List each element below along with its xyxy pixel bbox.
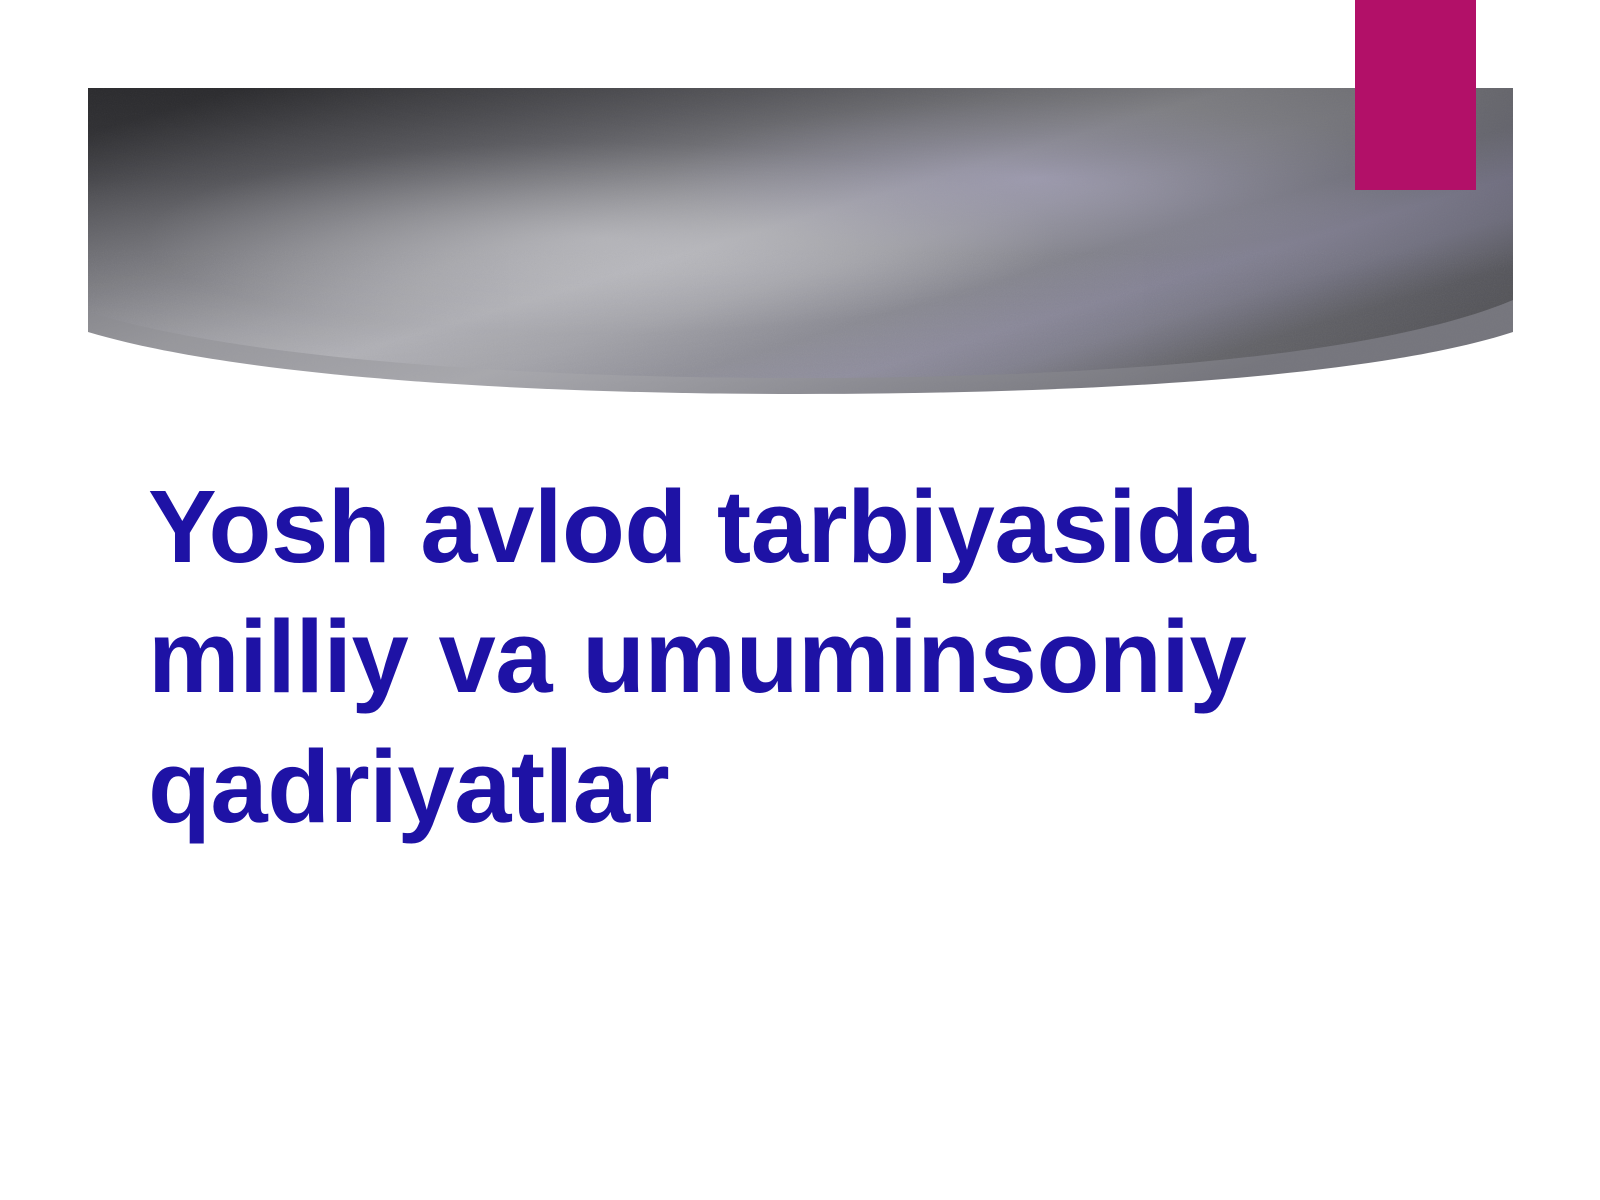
banner-main-sheet [88, 88, 1513, 388]
slide-canvas: Yosh avlod tarbiyasida milliy va umumins… [0, 0, 1600, 1200]
title-placeholder[interactable]: Yosh avlod tarbiyasida milliy va umumins… [148, 462, 1408, 851]
banner-underlay-curve [88, 200, 1513, 394]
page-title: Yosh avlod tarbiyasida milliy va umumins… [148, 462, 1408, 851]
magenta-accent-rectangle [1355, 0, 1476, 190]
banner-underlay-texture [88, 250, 1513, 400]
